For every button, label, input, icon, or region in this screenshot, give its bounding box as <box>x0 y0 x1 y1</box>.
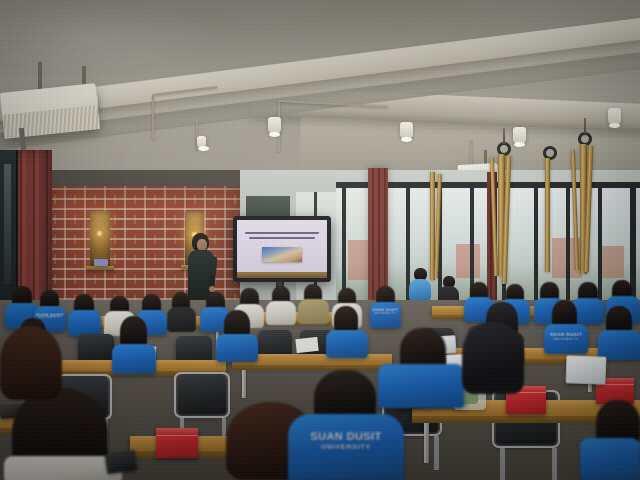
hanging-rope <box>503 128 505 144</box>
table-leg <box>424 423 429 463</box>
attendee-torso: SUAN DUSIT UNIVERSITY <box>544 324 588 354</box>
attendee-head-scarf <box>462 322 524 394</box>
ceiling-spotlight <box>268 117 281 134</box>
outdoor-building <box>348 240 370 280</box>
attendee-torso <box>167 307 196 332</box>
hanging-bamboo-rod <box>545 158 550 272</box>
electrical-conduit <box>152 96 154 140</box>
attendee-torso: SUAN DUSIT UNIVERSITY <box>288 414 404 480</box>
shirt-branding: SUAN DUSIT UNIVERSITY <box>288 432 404 451</box>
attendee-torso <box>4 456 122 480</box>
red-gift-box[interactable] <box>156 428 198 458</box>
attendee-torso <box>580 438 640 480</box>
ceiling-spotlight <box>400 122 413 139</box>
ac-mount-bracket <box>38 62 42 92</box>
shirt-branding: SUAN DUSIT UNIVERSITY <box>370 309 401 315</box>
slide-photo <box>262 247 302 263</box>
shirt-branding: SUAN DUSIT UNIVERSITY <box>544 333 588 341</box>
tablet-device[interactable] <box>566 355 607 384</box>
chair-leg <box>434 436 439 470</box>
display-base-strip <box>237 272 327 278</box>
ceiling-spotlight <box>197 136 206 148</box>
attendee-torso <box>598 330 640 360</box>
paper-sheet <box>295 337 318 353</box>
chair-leg <box>552 448 557 480</box>
table-leg <box>242 370 246 398</box>
handheld-microphone <box>210 274 214 286</box>
presentation-slide <box>237 220 327 273</box>
attendee-torso <box>216 334 258 362</box>
attendee-torso <box>326 330 368 358</box>
lecture-hall-photo: SUAN DUSIT UNIVERSITY SUA <box>0 0 640 480</box>
presentation-display[interactable] <box>233 216 331 282</box>
niche-lamp <box>96 230 103 237</box>
attendee-torso: SUAN DUSIT UNIVERSITY <box>370 302 401 328</box>
hanging-rope <box>584 118 586 134</box>
attendee-hair <box>0 326 62 400</box>
wall-shelf <box>86 266 114 270</box>
shelf-object <box>94 259 108 266</box>
tablet-screen <box>567 356 606 383</box>
red-box-lid <box>156 428 198 436</box>
attendee-torso <box>298 299 329 324</box>
ceiling-spotlight <box>608 108 621 125</box>
ceiling-spotlight <box>513 127 526 144</box>
attendee-torso <box>68 310 101 336</box>
attendee-torso <box>266 301 296 325</box>
chair-leg <box>500 448 505 480</box>
mobile-phone[interactable] <box>105 450 137 474</box>
attendee-torso <box>112 344 156 374</box>
chair-frame <box>174 372 230 418</box>
attendee-torso <box>378 364 464 408</box>
attendee-torso <box>409 279 431 301</box>
outdoor-building <box>456 244 480 278</box>
table-edge <box>232 365 392 370</box>
